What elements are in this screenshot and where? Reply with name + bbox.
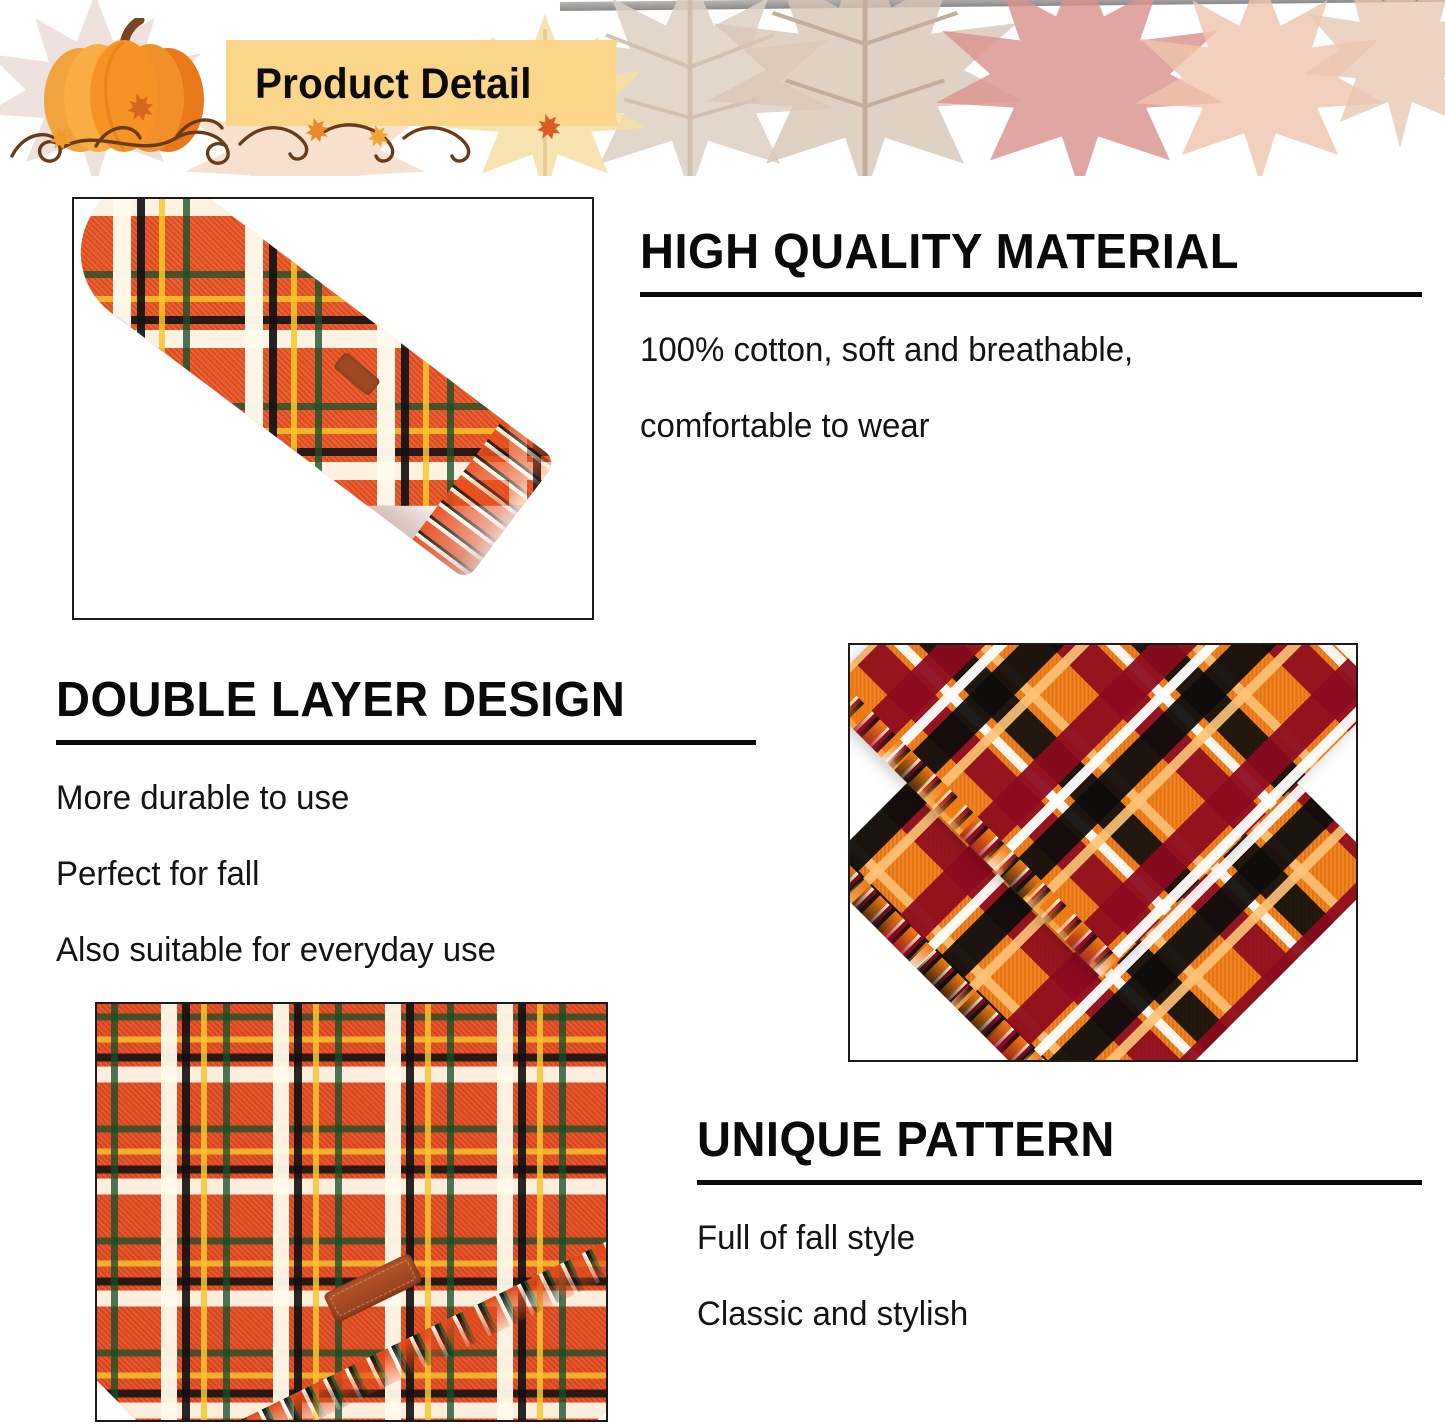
section-heading: DOUBLE LAYER DESIGN <box>56 672 728 728</box>
vine-swirl-icon <box>0 86 560 176</box>
section-line: Full of fall style <box>697 1215 1400 1261</box>
heading-rule <box>697 1180 1422 1185</box>
section-unique-pattern: UNIQUE PATTERN Full of fall style Classi… <box>697 1112 1422 1337</box>
heading-rule <box>640 292 1422 297</box>
section-line: Classic and stylish <box>697 1291 1400 1337</box>
header-banner: Product Detail <box>0 0 1445 176</box>
section-high-quality-material: HIGH QUALITY MATERIAL 100% cotton, soft … <box>640 224 1422 449</box>
section-line: More durable to use <box>56 775 735 821</box>
photo-flat-plaid-corner <box>95 1002 608 1422</box>
maple-leaf-icon <box>1300 0 1445 150</box>
section-heading: HIGH QUALITY MATERIAL <box>640 224 1391 280</box>
section-double-layer-design: DOUBLE LAYER DESIGN More durable to use … <box>56 672 756 973</box>
flat-plaid-body <box>97 1004 606 1420</box>
photo-rolled-scarf <box>72 197 594 620</box>
photo-folded-bandana <box>848 643 1358 1062</box>
section-line: Also suitable for everyday use <box>56 927 735 973</box>
section-line: comfortable to wear <box>640 403 1399 449</box>
section-line: 100% cotton, soft and breathable, <box>640 327 1399 373</box>
section-line: Perfect for fall <box>56 851 735 897</box>
section-heading: UNIQUE PATTERN <box>697 1112 1393 1168</box>
heading-rule <box>56 740 756 745</box>
rolled-scarf-body <box>74 199 557 580</box>
